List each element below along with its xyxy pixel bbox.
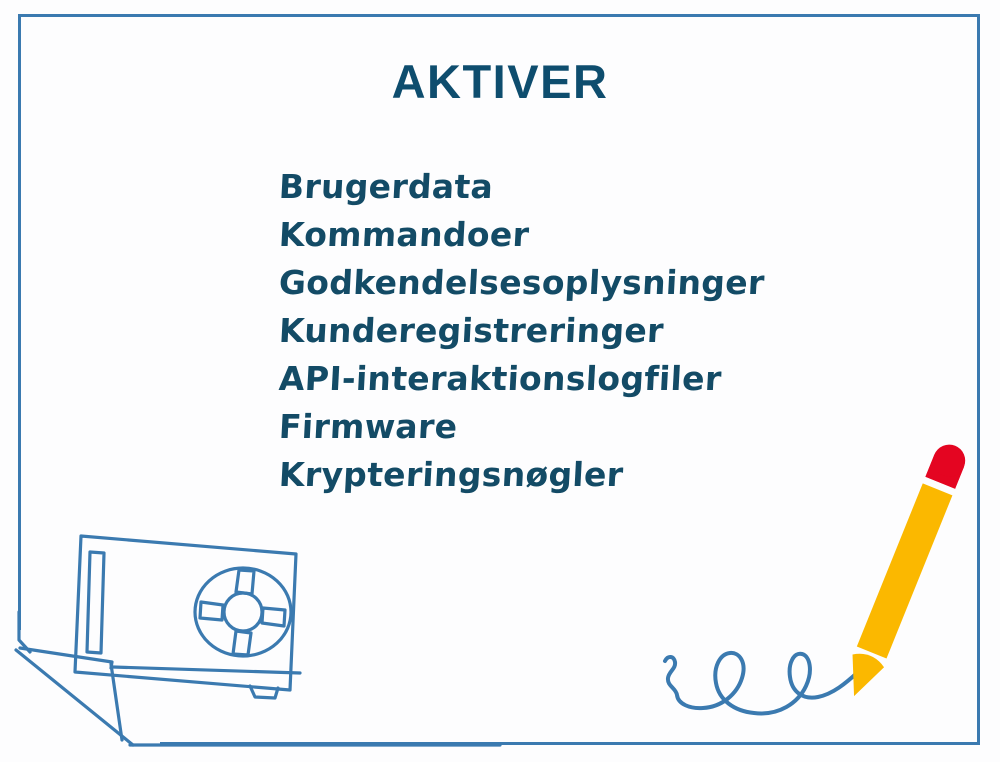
list-item: API-interaktionslogfiler: [278, 355, 766, 403]
list-item: Brugerdata: [278, 163, 766, 211]
page-border-corner-mask: [10, 630, 160, 760]
list-item: Godkendelsesoplysninger: [278, 259, 766, 307]
slide-canvas: AKTIVER Brugerdata Kommandoer Godkendels…: [0, 0, 1000, 762]
page-title: AKTIVER: [0, 58, 1000, 105]
list-item: Kommandoer: [278, 211, 766, 259]
asset-list: Brugerdata Kommandoer Godkendelsesoplysn…: [279, 163, 765, 499]
list-item: Firmware: [278, 403, 766, 451]
list-item: Kunderegistreringer: [278, 307, 766, 355]
list-item: Krypteringsnøgler: [278, 451, 766, 499]
